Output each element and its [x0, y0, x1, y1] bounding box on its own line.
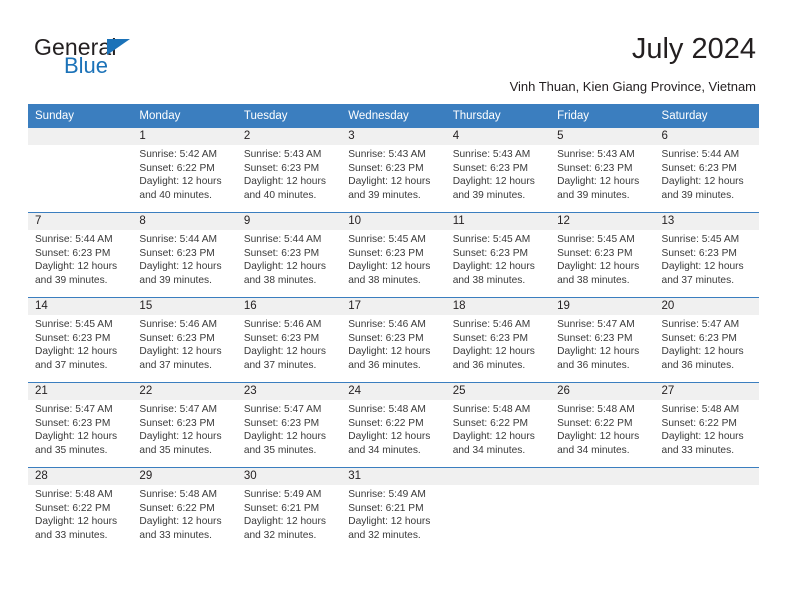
sunset-text: Sunset: 6:22 PM	[662, 417, 754, 431]
day-number: 3	[341, 128, 445, 145]
day-details: Sunrise: 5:45 AMSunset: 6:23 PMDaylight:…	[341, 230, 445, 287]
calendar-cell: 23Sunrise: 5:47 AMSunset: 6:23 PMDayligh…	[237, 383, 341, 468]
calendar-cell: 24Sunrise: 5:48 AMSunset: 6:22 PMDayligh…	[341, 383, 445, 468]
sunrise-text: Sunrise: 5:43 AM	[244, 148, 336, 162]
sunrise-text: Sunrise: 5:46 AM	[348, 318, 440, 332]
daylight-text-line2: and 34 minutes.	[453, 444, 545, 458]
calendar-cell: 1Sunrise: 5:42 AMSunset: 6:22 PMDaylight…	[132, 128, 236, 213]
brand-logo[interactable]: General Blue	[34, 36, 254, 86]
calendar-cell: 9Sunrise: 5:44 AMSunset: 6:23 PMDaylight…	[237, 213, 341, 298]
day-number: 2	[237, 128, 341, 145]
daylight-text-line1: Daylight: 12 hours	[453, 345, 545, 359]
day-details: Sunrise: 5:48 AMSunset: 6:22 PMDaylight:…	[28, 485, 132, 542]
day-details: Sunrise: 5:47 AMSunset: 6:23 PMDaylight:…	[237, 400, 341, 457]
daylight-text-line2: and 34 minutes.	[348, 444, 440, 458]
day-number: 10	[341, 213, 445, 230]
calendar-week-row: 21Sunrise: 5:47 AMSunset: 6:23 PMDayligh…	[28, 383, 759, 468]
day-number	[655, 468, 759, 485]
sunset-text: Sunset: 6:23 PM	[244, 162, 336, 176]
calendar-day[interactable]: 20Sunrise: 5:47 AMSunset: 6:23 PMDayligh…	[655, 298, 759, 382]
calendar-day[interactable]: 7Sunrise: 5:44 AMSunset: 6:23 PMDaylight…	[28, 213, 132, 297]
daylight-text-line2: and 32 minutes.	[348, 529, 440, 543]
daylight-text-line2: and 37 minutes.	[139, 359, 231, 373]
calendar-day[interactable]: 13Sunrise: 5:45 AMSunset: 6:23 PMDayligh…	[655, 213, 759, 297]
day-details: Sunrise: 5:49 AMSunset: 6:21 PMDaylight:…	[237, 485, 341, 542]
calendar-cell: 25Sunrise: 5:48 AMSunset: 6:22 PMDayligh…	[446, 383, 550, 468]
daylight-text-line1: Daylight: 12 hours	[453, 430, 545, 444]
day-number: 4	[446, 128, 550, 145]
sunset-text: Sunset: 6:23 PM	[557, 332, 649, 346]
daylight-text-line1: Daylight: 12 hours	[348, 345, 440, 359]
sunset-text: Sunset: 6:23 PM	[139, 332, 231, 346]
sunrise-text: Sunrise: 5:43 AM	[348, 148, 440, 162]
sunrise-text: Sunrise: 5:48 AM	[35, 488, 127, 502]
calendar-cell: 15Sunrise: 5:46 AMSunset: 6:23 PMDayligh…	[132, 298, 236, 383]
calendar-cell: 30Sunrise: 5:49 AMSunset: 6:21 PMDayligh…	[237, 468, 341, 553]
day-details: Sunrise: 5:44 AMSunset: 6:23 PMDaylight:…	[237, 230, 341, 287]
daylight-text-line1: Daylight: 12 hours	[244, 430, 336, 444]
calendar-day[interactable]: 3Sunrise: 5:43 AMSunset: 6:23 PMDaylight…	[341, 128, 445, 212]
sunset-text: Sunset: 6:23 PM	[35, 332, 127, 346]
sunset-text: Sunset: 6:23 PM	[139, 417, 231, 431]
sunrise-text: Sunrise: 5:42 AM	[139, 148, 231, 162]
daylight-text-line1: Daylight: 12 hours	[244, 260, 336, 274]
sunrise-text: Sunrise: 5:45 AM	[662, 233, 754, 247]
daylight-text-line2: and 32 minutes.	[244, 529, 336, 543]
sunrise-text: Sunrise: 5:43 AM	[557, 148, 649, 162]
sunset-text: Sunset: 6:23 PM	[557, 247, 649, 261]
daylight-text-line2: and 37 minutes.	[244, 359, 336, 373]
calendar-day[interactable]: 31Sunrise: 5:49 AMSunset: 6:21 PMDayligh…	[341, 468, 445, 552]
calendar-day[interactable]: 28Sunrise: 5:48 AMSunset: 6:22 PMDayligh…	[28, 468, 132, 552]
daylight-text-line1: Daylight: 12 hours	[35, 515, 127, 529]
sunrise-text: Sunrise: 5:47 AM	[139, 403, 231, 417]
calendar-cell: 22Sunrise: 5:47 AMSunset: 6:23 PMDayligh…	[132, 383, 236, 468]
daylight-text-line1: Daylight: 12 hours	[557, 430, 649, 444]
day-number: 9	[237, 213, 341, 230]
daylight-text-line2: and 38 minutes.	[453, 274, 545, 288]
sunrise-text: Sunrise: 5:45 AM	[35, 318, 127, 332]
calendar-week-row: 28Sunrise: 5:48 AMSunset: 6:22 PMDayligh…	[28, 468, 759, 553]
daylight-text-line1: Daylight: 12 hours	[139, 260, 231, 274]
sunrise-text: Sunrise: 5:48 AM	[453, 403, 545, 417]
calendar-cell: 10Sunrise: 5:45 AMSunset: 6:23 PMDayligh…	[341, 213, 445, 298]
day-details: Sunrise: 5:43 AMSunset: 6:23 PMDaylight:…	[446, 145, 550, 202]
day-details: Sunrise: 5:45 AMSunset: 6:23 PMDaylight:…	[655, 230, 759, 287]
daylight-text-line2: and 36 minutes.	[453, 359, 545, 373]
day-details: Sunrise: 5:45 AMSunset: 6:23 PMDaylight:…	[28, 315, 132, 372]
day-details: Sunrise: 5:48 AMSunset: 6:22 PMDaylight:…	[655, 400, 759, 457]
day-number: 5	[550, 128, 654, 145]
calendar-day[interactable]: 12Sunrise: 5:45 AMSunset: 6:23 PMDayligh…	[550, 213, 654, 297]
day-details: Sunrise: 5:48 AMSunset: 6:22 PMDaylight:…	[132, 485, 236, 542]
calendar-day[interactable]: 9Sunrise: 5:44 AMSunset: 6:23 PMDaylight…	[237, 213, 341, 297]
calendar-day-empty	[28, 128, 132, 212]
daylight-text-line1: Daylight: 12 hours	[139, 515, 231, 529]
calendar-day[interactable]: 10Sunrise: 5:45 AMSunset: 6:23 PMDayligh…	[341, 213, 445, 297]
sunset-text: Sunset: 6:23 PM	[662, 247, 754, 261]
sunrise-text: Sunrise: 5:47 AM	[662, 318, 754, 332]
calendar-cell	[550, 468, 654, 553]
calendar-table: Sunday Monday Tuesday Wednesday Thursday…	[28, 104, 759, 552]
daylight-text-line1: Daylight: 12 hours	[453, 260, 545, 274]
day-details: Sunrise: 5:43 AMSunset: 6:23 PMDaylight:…	[550, 145, 654, 202]
weekday-header-wednesday: Wednesday	[341, 104, 445, 128]
sunrise-text: Sunrise: 5:44 AM	[662, 148, 754, 162]
sunrise-text: Sunrise: 5:49 AM	[244, 488, 336, 502]
daylight-text-line1: Daylight: 12 hours	[662, 345, 754, 359]
weekday-header-monday: Monday	[132, 104, 236, 128]
sunset-text: Sunset: 6:23 PM	[453, 332, 545, 346]
day-number: 26	[550, 383, 654, 400]
calendar-day-empty	[446, 468, 550, 552]
calendar-cell: 3Sunrise: 5:43 AMSunset: 6:23 PMDaylight…	[341, 128, 445, 213]
calendar-cell: 11Sunrise: 5:45 AMSunset: 6:23 PMDayligh…	[446, 213, 550, 298]
calendar-cell: 13Sunrise: 5:45 AMSunset: 6:23 PMDayligh…	[655, 213, 759, 298]
sunrise-text: Sunrise: 5:46 AM	[244, 318, 336, 332]
sunrise-text: Sunrise: 5:48 AM	[348, 403, 440, 417]
calendar-day[interactable]: 15Sunrise: 5:46 AMSunset: 6:23 PMDayligh…	[132, 298, 236, 382]
sunset-text: Sunset: 6:22 PM	[139, 502, 231, 516]
sunset-text: Sunset: 6:22 PM	[35, 502, 127, 516]
weekday-header-saturday: Saturday	[655, 104, 759, 128]
daylight-text-line1: Daylight: 12 hours	[244, 515, 336, 529]
sunrise-text: Sunrise: 5:43 AM	[453, 148, 545, 162]
sunrise-text: Sunrise: 5:44 AM	[139, 233, 231, 247]
day-details: Sunrise: 5:45 AMSunset: 6:23 PMDaylight:…	[446, 230, 550, 287]
calendar-cell: 5Sunrise: 5:43 AMSunset: 6:23 PMDaylight…	[550, 128, 654, 213]
calendar-cell: 21Sunrise: 5:47 AMSunset: 6:23 PMDayligh…	[28, 383, 132, 468]
calendar-cell: 16Sunrise: 5:46 AMSunset: 6:23 PMDayligh…	[237, 298, 341, 383]
day-details: Sunrise: 5:47 AMSunset: 6:23 PMDaylight:…	[655, 315, 759, 372]
page-header: General Blue July 2024 Vinh Thuan, Kien …	[0, 0, 792, 104]
sunrise-text: Sunrise: 5:46 AM	[139, 318, 231, 332]
sunset-text: Sunset: 6:21 PM	[348, 502, 440, 516]
page-subtitle: Vinh Thuan, Kien Giang Province, Vietnam	[510, 79, 756, 94]
day-number: 15	[132, 298, 236, 315]
daylight-text-line2: and 39 minutes.	[662, 189, 754, 203]
day-number: 25	[446, 383, 550, 400]
daylight-text-line1: Daylight: 12 hours	[139, 175, 231, 189]
weekday-header-friday: Friday	[550, 104, 654, 128]
day-number: 29	[132, 468, 236, 485]
calendar-cell: 19Sunrise: 5:47 AMSunset: 6:23 PMDayligh…	[550, 298, 654, 383]
daylight-text-line2: and 37 minutes.	[35, 359, 127, 373]
day-number: 30	[237, 468, 341, 485]
sunset-text: Sunset: 6:23 PM	[244, 332, 336, 346]
calendar-day[interactable]: 22Sunrise: 5:47 AMSunset: 6:23 PMDayligh…	[132, 383, 236, 467]
calendar-day[interactable]: 23Sunrise: 5:47 AMSunset: 6:23 PMDayligh…	[237, 383, 341, 467]
daylight-text-line2: and 36 minutes.	[557, 359, 649, 373]
day-details: Sunrise: 5:44 AMSunset: 6:23 PMDaylight:…	[28, 230, 132, 287]
calendar-cell: 8Sunrise: 5:44 AMSunset: 6:23 PMDaylight…	[132, 213, 236, 298]
calendar-day[interactable]: 19Sunrise: 5:47 AMSunset: 6:23 PMDayligh…	[550, 298, 654, 382]
triangle-right-icon	[107, 39, 130, 55]
day-number	[28, 128, 132, 145]
calendar-cell: 31Sunrise: 5:49 AMSunset: 6:21 PMDayligh…	[341, 468, 445, 553]
calendar-week-row: 7Sunrise: 5:44 AMSunset: 6:23 PMDaylight…	[28, 213, 759, 298]
daylight-text-line1: Daylight: 12 hours	[139, 345, 231, 359]
daylight-text-line1: Daylight: 12 hours	[244, 175, 336, 189]
sunset-text: Sunset: 6:23 PM	[244, 247, 336, 261]
sunset-text: Sunset: 6:23 PM	[662, 162, 754, 176]
daylight-text-line2: and 33 minutes.	[139, 529, 231, 543]
calendar-day[interactable]: 11Sunrise: 5:45 AMSunset: 6:23 PMDayligh…	[446, 213, 550, 297]
daylight-text-line2: and 35 minutes.	[244, 444, 336, 458]
calendar-page: General Blue July 2024 Vinh Thuan, Kien …	[0, 0, 792, 612]
sunset-text: Sunset: 6:22 PM	[557, 417, 649, 431]
daylight-text-line1: Daylight: 12 hours	[348, 175, 440, 189]
calendar-container: Sunday Monday Tuesday Wednesday Thursday…	[28, 104, 759, 552]
sunrise-text: Sunrise: 5:47 AM	[35, 403, 127, 417]
sunset-text: Sunset: 6:23 PM	[453, 247, 545, 261]
sunset-text: Sunset: 6:23 PM	[348, 162, 440, 176]
daylight-text-line1: Daylight: 12 hours	[662, 430, 754, 444]
daylight-text-line2: and 37 minutes.	[662, 274, 754, 288]
sunrise-text: Sunrise: 5:49 AM	[348, 488, 440, 502]
daylight-text-line1: Daylight: 12 hours	[557, 345, 649, 359]
day-number: 23	[237, 383, 341, 400]
day-number: 13	[655, 213, 759, 230]
calendar-cell	[446, 468, 550, 553]
calendar-head: Sunday Monday Tuesday Wednesday Thursday…	[28, 104, 759, 128]
sunrise-text: Sunrise: 5:45 AM	[348, 233, 440, 247]
daylight-text-line1: Daylight: 12 hours	[662, 175, 754, 189]
daylight-text-line2: and 34 minutes.	[557, 444, 649, 458]
day-details: Sunrise: 5:46 AMSunset: 6:23 PMDaylight:…	[237, 315, 341, 372]
day-number: 31	[341, 468, 445, 485]
calendar-day-empty	[550, 468, 654, 552]
daylight-text-line2: and 39 minutes.	[139, 274, 231, 288]
daylight-text-line2: and 39 minutes.	[35, 274, 127, 288]
day-details: Sunrise: 5:48 AMSunset: 6:22 PMDaylight:…	[550, 400, 654, 457]
daylight-text-line1: Daylight: 12 hours	[453, 175, 545, 189]
daylight-text-line1: Daylight: 12 hours	[244, 345, 336, 359]
day-number: 18	[446, 298, 550, 315]
calendar-day[interactable]: 24Sunrise: 5:48 AMSunset: 6:22 PMDayligh…	[341, 383, 445, 467]
calendar-day[interactable]: 14Sunrise: 5:45 AMSunset: 6:23 PMDayligh…	[28, 298, 132, 382]
sunset-text: Sunset: 6:23 PM	[453, 162, 545, 176]
day-number: 6	[655, 128, 759, 145]
calendar-cell: 28Sunrise: 5:48 AMSunset: 6:22 PMDayligh…	[28, 468, 132, 553]
day-details: Sunrise: 5:48 AMSunset: 6:22 PMDaylight:…	[446, 400, 550, 457]
sunset-text: Sunset: 6:23 PM	[557, 162, 649, 176]
day-details: Sunrise: 5:46 AMSunset: 6:23 PMDaylight:…	[341, 315, 445, 372]
day-number: 1	[132, 128, 236, 145]
calendar-day[interactable]: 27Sunrise: 5:48 AMSunset: 6:22 PMDayligh…	[655, 383, 759, 467]
calendar-cell: 29Sunrise: 5:48 AMSunset: 6:22 PMDayligh…	[132, 468, 236, 553]
calendar-cell: 4Sunrise: 5:43 AMSunset: 6:23 PMDaylight…	[446, 128, 550, 213]
sunrise-text: Sunrise: 5:48 AM	[139, 488, 231, 502]
daylight-text-line2: and 35 minutes.	[139, 444, 231, 458]
calendar-day[interactable]: 16Sunrise: 5:46 AMSunset: 6:23 PMDayligh…	[237, 298, 341, 382]
daylight-text-line2: and 36 minutes.	[348, 359, 440, 373]
day-number: 11	[446, 213, 550, 230]
calendar-day[interactable]: 4Sunrise: 5:43 AMSunset: 6:23 PMDaylight…	[446, 128, 550, 212]
day-details: Sunrise: 5:44 AMSunset: 6:23 PMDaylight:…	[132, 230, 236, 287]
day-number: 17	[341, 298, 445, 315]
daylight-text-line1: Daylight: 12 hours	[557, 260, 649, 274]
calendar-week-row: 1Sunrise: 5:42 AMSunset: 6:22 PMDaylight…	[28, 128, 759, 213]
calendar-cell	[28, 128, 132, 213]
calendar-cell: 18Sunrise: 5:46 AMSunset: 6:23 PMDayligh…	[446, 298, 550, 383]
calendar-cell: 2Sunrise: 5:43 AMSunset: 6:23 PMDaylight…	[237, 128, 341, 213]
day-number: 20	[655, 298, 759, 315]
calendar-cell: 27Sunrise: 5:48 AMSunset: 6:22 PMDayligh…	[655, 383, 759, 468]
sunrise-text: Sunrise: 5:44 AM	[244, 233, 336, 247]
calendar-day[interactable]: 17Sunrise: 5:46 AMSunset: 6:23 PMDayligh…	[341, 298, 445, 382]
weekday-header-row: Sunday Monday Tuesday Wednesday Thursday…	[28, 104, 759, 128]
calendar-day[interactable]: 25Sunrise: 5:48 AMSunset: 6:22 PMDayligh…	[446, 383, 550, 467]
day-details: Sunrise: 5:43 AMSunset: 6:23 PMDaylight:…	[237, 145, 341, 202]
sunrise-text: Sunrise: 5:47 AM	[557, 318, 649, 332]
daylight-text-line2: and 38 minutes.	[348, 274, 440, 288]
sunset-text: Sunset: 6:23 PM	[348, 332, 440, 346]
daylight-text-line1: Daylight: 12 hours	[348, 430, 440, 444]
daylight-text-line2: and 40 minutes.	[244, 189, 336, 203]
calendar-cell: 12Sunrise: 5:45 AMSunset: 6:23 PMDayligh…	[550, 213, 654, 298]
day-number: 24	[341, 383, 445, 400]
sunset-text: Sunset: 6:23 PM	[662, 332, 754, 346]
sunrise-text: Sunrise: 5:45 AM	[453, 233, 545, 247]
calendar-day[interactable]: 8Sunrise: 5:44 AMSunset: 6:23 PMDaylight…	[132, 213, 236, 297]
daylight-text-line1: Daylight: 12 hours	[139, 430, 231, 444]
daylight-text-line2: and 36 minutes.	[662, 359, 754, 373]
calendar-cell	[655, 468, 759, 553]
calendar-day[interactable]: 30Sunrise: 5:49 AMSunset: 6:21 PMDayligh…	[237, 468, 341, 552]
day-details: Sunrise: 5:43 AMSunset: 6:23 PMDaylight:…	[341, 145, 445, 202]
daylight-text-line2: and 35 minutes.	[35, 444, 127, 458]
sunrise-text: Sunrise: 5:48 AM	[662, 403, 754, 417]
weekday-header-tuesday: Tuesday	[237, 104, 341, 128]
sunrise-text: Sunrise: 5:46 AM	[453, 318, 545, 332]
day-number: 27	[655, 383, 759, 400]
daylight-text-line2: and 39 minutes.	[453, 189, 545, 203]
day-details: Sunrise: 5:45 AMSunset: 6:23 PMDaylight:…	[550, 230, 654, 287]
sunset-text: Sunset: 6:23 PM	[348, 247, 440, 261]
calendar-cell: 26Sunrise: 5:48 AMSunset: 6:22 PMDayligh…	[550, 383, 654, 468]
daylight-text-line2: and 40 minutes.	[139, 189, 231, 203]
day-number: 22	[132, 383, 236, 400]
sunrise-text: Sunrise: 5:45 AM	[557, 233, 649, 247]
sunset-text: Sunset: 6:22 PM	[139, 162, 231, 176]
daylight-text-line2: and 39 minutes.	[348, 189, 440, 203]
calendar-day[interactable]: 18Sunrise: 5:46 AMSunset: 6:23 PMDayligh…	[446, 298, 550, 382]
sunrise-text: Sunrise: 5:44 AM	[35, 233, 127, 247]
day-details: Sunrise: 5:44 AMSunset: 6:23 PMDaylight:…	[655, 145, 759, 202]
sunrise-text: Sunrise: 5:48 AM	[557, 403, 649, 417]
sunset-text: Sunset: 6:23 PM	[35, 417, 127, 431]
daylight-text-line2: and 33 minutes.	[35, 529, 127, 543]
daylight-text-line1: Daylight: 12 hours	[348, 515, 440, 529]
daylight-text-line1: Daylight: 12 hours	[35, 430, 127, 444]
calendar-cell: 20Sunrise: 5:47 AMSunset: 6:23 PMDayligh…	[655, 298, 759, 383]
calendar-day[interactable]: 6Sunrise: 5:44 AMSunset: 6:23 PMDaylight…	[655, 128, 759, 212]
page-title: July 2024	[632, 33, 756, 65]
weekday-header-sunday: Sunday	[28, 104, 132, 128]
daylight-text-line2: and 39 minutes.	[557, 189, 649, 203]
day-number: 7	[28, 213, 132, 230]
sunset-text: Sunset: 6:23 PM	[139, 247, 231, 261]
day-details: Sunrise: 5:49 AMSunset: 6:21 PMDaylight:…	[341, 485, 445, 542]
calendar-cell: 6Sunrise: 5:44 AMSunset: 6:23 PMDaylight…	[655, 128, 759, 213]
day-details: Sunrise: 5:42 AMSunset: 6:22 PMDaylight:…	[132, 145, 236, 202]
calendar-day[interactable]: 26Sunrise: 5:48 AMSunset: 6:22 PMDayligh…	[550, 383, 654, 467]
calendar-cell: 7Sunrise: 5:44 AMSunset: 6:23 PMDaylight…	[28, 213, 132, 298]
sunset-text: Sunset: 6:22 PM	[348, 417, 440, 431]
calendar-day[interactable]: 29Sunrise: 5:48 AMSunset: 6:22 PMDayligh…	[132, 468, 236, 552]
day-details: Sunrise: 5:47 AMSunset: 6:23 PMDaylight:…	[28, 400, 132, 457]
sunset-text: Sunset: 6:23 PM	[35, 247, 127, 261]
weekday-header-thursday: Thursday	[446, 104, 550, 128]
sunset-text: Sunset: 6:22 PM	[453, 417, 545, 431]
day-number: 28	[28, 468, 132, 485]
daylight-text-line2: and 38 minutes.	[557, 274, 649, 288]
calendar-cell: 17Sunrise: 5:46 AMSunset: 6:23 PMDayligh…	[341, 298, 445, 383]
calendar-body: 1Sunrise: 5:42 AMSunset: 6:22 PMDaylight…	[28, 128, 759, 552]
sunset-text: Sunset: 6:23 PM	[244, 417, 336, 431]
sunrise-text: Sunrise: 5:47 AM	[244, 403, 336, 417]
daylight-text-line1: Daylight: 12 hours	[348, 260, 440, 274]
daylight-text-line1: Daylight: 12 hours	[662, 260, 754, 274]
calendar-week-row: 14Sunrise: 5:45 AMSunset: 6:23 PMDayligh…	[28, 298, 759, 383]
daylight-text-line2: and 33 minutes.	[662, 444, 754, 458]
day-details: Sunrise: 5:47 AMSunset: 6:23 PMDaylight:…	[132, 400, 236, 457]
day-number: 19	[550, 298, 654, 315]
day-number: 21	[28, 383, 132, 400]
day-number	[446, 468, 550, 485]
calendar-day[interactable]: 5Sunrise: 5:43 AMSunset: 6:23 PMDaylight…	[550, 128, 654, 212]
daylight-text-line1: Daylight: 12 hours	[35, 345, 127, 359]
calendar-day-empty	[655, 468, 759, 552]
day-number	[550, 468, 654, 485]
day-details: Sunrise: 5:46 AMSunset: 6:23 PMDaylight:…	[446, 315, 550, 372]
day-number: 12	[550, 213, 654, 230]
day-details: Sunrise: 5:46 AMSunset: 6:23 PMDaylight:…	[132, 315, 236, 372]
day-details: Sunrise: 5:47 AMSunset: 6:23 PMDaylight:…	[550, 315, 654, 372]
calendar-cell: 14Sunrise: 5:45 AMSunset: 6:23 PMDayligh…	[28, 298, 132, 383]
calendar-day[interactable]: 2Sunrise: 5:43 AMSunset: 6:23 PMDaylight…	[237, 128, 341, 212]
daylight-text-line1: Daylight: 12 hours	[557, 175, 649, 189]
calendar-day[interactable]: 1Sunrise: 5:42 AMSunset: 6:22 PMDaylight…	[132, 128, 236, 212]
day-number: 8	[132, 213, 236, 230]
daylight-text-line1: Daylight: 12 hours	[35, 260, 127, 274]
sunset-text: Sunset: 6:21 PM	[244, 502, 336, 516]
calendar-day[interactable]: 21Sunrise: 5:47 AMSunset: 6:23 PMDayligh…	[28, 383, 132, 467]
day-details: Sunrise: 5:48 AMSunset: 6:22 PMDaylight:…	[341, 400, 445, 457]
day-number: 16	[237, 298, 341, 315]
daylight-text-line2: and 38 minutes.	[244, 274, 336, 288]
day-number: 14	[28, 298, 132, 315]
brand-name-blue: Blue	[64, 55, 108, 77]
